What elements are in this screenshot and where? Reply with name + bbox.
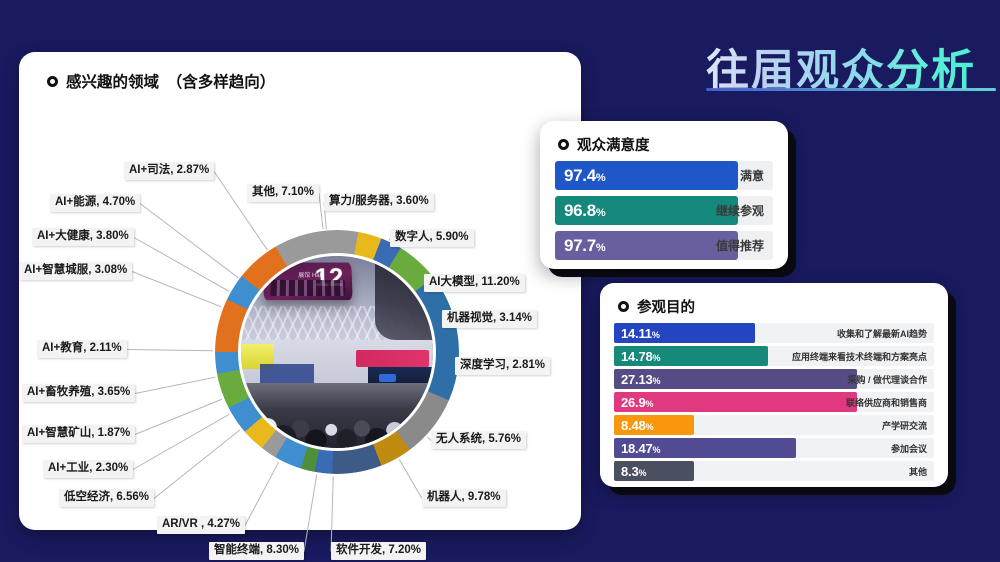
satisfaction-label: 满意	[740, 161, 764, 190]
purpose-value: 27.13%	[614, 372, 660, 387]
donut-label-text: AI大模型, 11.20%	[429, 276, 520, 288]
title-underline	[706, 88, 996, 91]
satisfaction-label: 值得推荐	[716, 231, 764, 260]
donut-leader-line	[135, 377, 216, 394]
purpose-bar-fill: 8.48%	[614, 415, 694, 435]
purpose-bar-fill: 8.3%	[614, 461, 694, 481]
donut-label-text: AI+智慧城服, 3.08%	[24, 264, 127, 276]
purpose-heading-text: 参观目的	[637, 296, 695, 317]
donut-leader-line	[132, 271, 222, 307]
ring-bullet-icon	[47, 76, 58, 87]
satisfaction-value: 97.7%	[555, 236, 605, 256]
donut-label: AR/VR , 4.27%	[157, 516, 245, 534]
donut-label-text: AI+教育, 2.11%	[42, 342, 122, 354]
interest-donut-chart: 展馆 Hall 12	[215, 230, 459, 474]
donut-label: AI+大健康, 3.80%	[32, 228, 134, 246]
purpose-row: 14.78%应用终端来看技术终端和方案亮点	[614, 346, 934, 366]
satisfaction-value: 97.4%	[555, 166, 605, 186]
interest-domains-card: 感兴趣的领域 （含多样趋向） 展馆 Hall 12	[19, 52, 581, 530]
donut-label: AI+工业, 2.30%	[43, 460, 133, 478]
purpose-bar-fill: 26.9%	[614, 392, 857, 412]
purpose-label: 产学研交流	[882, 415, 927, 435]
satisfaction-row: 97.4%满意	[555, 161, 773, 190]
donut-label: AI+教育, 2.11%	[37, 340, 127, 358]
purpose-label: 采购 / 做代理谈合作	[847, 369, 927, 389]
purpose-card-heading: 参观目的	[618, 296, 695, 317]
purpose-row: 26.9%联络供应商和销售商	[614, 392, 934, 412]
purpose-card: 参观目的 14.11%收集和了解最新AI趋势14.78%应用终端来看技术终端和方…	[600, 283, 948, 487]
donut-label-text: 智能终端, 8.30%	[214, 544, 299, 556]
donut-label-text: AR/VR , 4.27%	[162, 518, 240, 530]
interest-card-heading-text: 感兴趣的领域 （含多样趋向）	[66, 70, 275, 92]
purpose-value: 8.3%	[614, 464, 646, 479]
purpose-label: 收集和了解最新AI趋势	[837, 323, 927, 343]
donut-label: 低空经济, 6.56%	[59, 489, 154, 507]
donut-label-text: 低空经济, 6.56%	[64, 491, 149, 503]
donut-label: 数字人, 5.90%	[390, 229, 474, 247]
satisfaction-card-heading: 观众满意度	[558, 134, 650, 155]
purpose-value: 26.9%	[614, 395, 653, 410]
donut-label-text: AI+工业, 2.30%	[48, 462, 128, 474]
purpose-label: 应用终端来看技术终端和方案亮点	[792, 346, 927, 366]
exhibition-hall-photo: 展馆 Hall 12	[241, 256, 433, 448]
donut-label-text: AI+畜牧养殖, 3.65%	[27, 386, 130, 398]
purpose-bar-fill: 18.47%	[614, 438, 796, 458]
purpose-value: 18.47%	[614, 441, 660, 456]
donut-label: 软件开发, 7.20%	[331, 542, 426, 560]
donut-leader-line	[319, 193, 324, 229]
purpose-value: 14.78%	[614, 349, 660, 364]
donut-label: 其他, 7.10%	[247, 184, 319, 202]
satisfaction-row: 96.8%继续参观	[555, 196, 773, 225]
satisfaction-card: 观众满意度 97.4%满意96.8%继续参观97.7%值得推荐	[540, 121, 788, 269]
interest-card-heading: 感兴趣的领域 （含多样趋向）	[47, 70, 275, 92]
donut-leader-line	[135, 399, 222, 435]
purpose-value: 8.48%	[614, 418, 653, 433]
purpose-bar-fill: 14.11%	[614, 323, 755, 343]
donut-label: 智能终端, 8.30%	[209, 542, 304, 560]
donut-label-text: 算力/服务器, 3.60%	[329, 195, 429, 207]
purpose-row: 8.48%产学研交流	[614, 415, 934, 435]
donut-label-text: 其他, 7.10%	[252, 186, 314, 198]
donut-label: AI大模型, 11.20%	[424, 274, 525, 292]
donut-label: AI+智慧矿山, 1.87%	[22, 425, 135, 443]
donut-label-text: 无人系统, 5.76%	[436, 433, 521, 445]
donut-label: 深度学习, 2.81%	[455, 357, 550, 375]
donut-label-text: AI+大健康, 3.80%	[37, 230, 129, 242]
donut-label-text: 数字人, 5.90%	[395, 231, 469, 243]
ring-bullet-icon	[558, 139, 569, 150]
donut-label-text: 深度学习, 2.81%	[460, 359, 545, 371]
purpose-label: 其他	[909, 461, 927, 481]
satisfaction-bar-fill: 96.8%	[555, 196, 738, 225]
purpose-row: 8.3%其他	[614, 461, 934, 481]
donut-label: 算力/服务器, 3.60%	[324, 193, 434, 211]
donut-label-text: 机器视觉, 3.14%	[447, 312, 532, 324]
donut-center-photo: 展馆 Hall 12	[241, 256, 433, 448]
purpose-label: 参加会议	[891, 438, 927, 458]
donut-label-text: AI+能源, 4.70%	[55, 196, 135, 208]
donut-label: AI+畜牧养殖, 3.65%	[22, 384, 135, 402]
donut-label: 无人系统, 5.76%	[431, 431, 526, 449]
donut-leader-line	[127, 349, 213, 351]
satisfaction-value: 96.8%	[555, 201, 605, 221]
purpose-bar-fill: 14.78%	[614, 346, 768, 366]
ring-bullet-icon	[618, 301, 629, 312]
donut-label-text: AI+司法, 2.87%	[129, 164, 209, 176]
donut-label: 机器视觉, 3.14%	[442, 310, 537, 328]
donut-label: 机器人, 9.78%	[422, 489, 506, 507]
donut-label: AI+能源, 4.70%	[50, 194, 140, 212]
donut-leader-line	[304, 475, 318, 552]
donut-label-text: AI+智慧矿山, 1.87%	[27, 427, 130, 439]
donut-label-text: 机器人, 9.78%	[427, 491, 501, 503]
donut-label: AI+司法, 2.87%	[124, 162, 214, 180]
hall-banner: 展馆 Hall 12	[263, 262, 353, 300]
satisfaction-heading-text: 观众满意度	[577, 134, 650, 155]
slide-root: 往届观众分析 感兴趣的领域 （含多样趋向） 展馆 Hall 12	[0, 0, 1000, 562]
purpose-row: 14.11%收集和了解最新AI趋势	[614, 323, 934, 343]
purpose-value: 14.11%	[614, 326, 660, 341]
satisfaction-bar-fill: 97.4%	[555, 161, 738, 190]
satisfaction-bar-fill: 97.7%	[555, 231, 738, 260]
satisfaction-label: 继续参观	[716, 196, 764, 225]
purpose-bar-fill: 27.13%	[614, 369, 857, 389]
donut-leader-line	[331, 476, 334, 551]
satisfaction-row: 97.7%值得推荐	[555, 231, 773, 260]
donut-label: AI+智慧城服, 3.08%	[19, 262, 132, 280]
purpose-row: 27.13%采购 / 做代理谈合作	[614, 369, 934, 389]
purpose-label: 联络供应商和销售商	[846, 392, 927, 412]
donut-label-text: 软件开发, 7.20%	[336, 544, 421, 556]
purpose-row: 18.47%参加会议	[614, 438, 934, 458]
